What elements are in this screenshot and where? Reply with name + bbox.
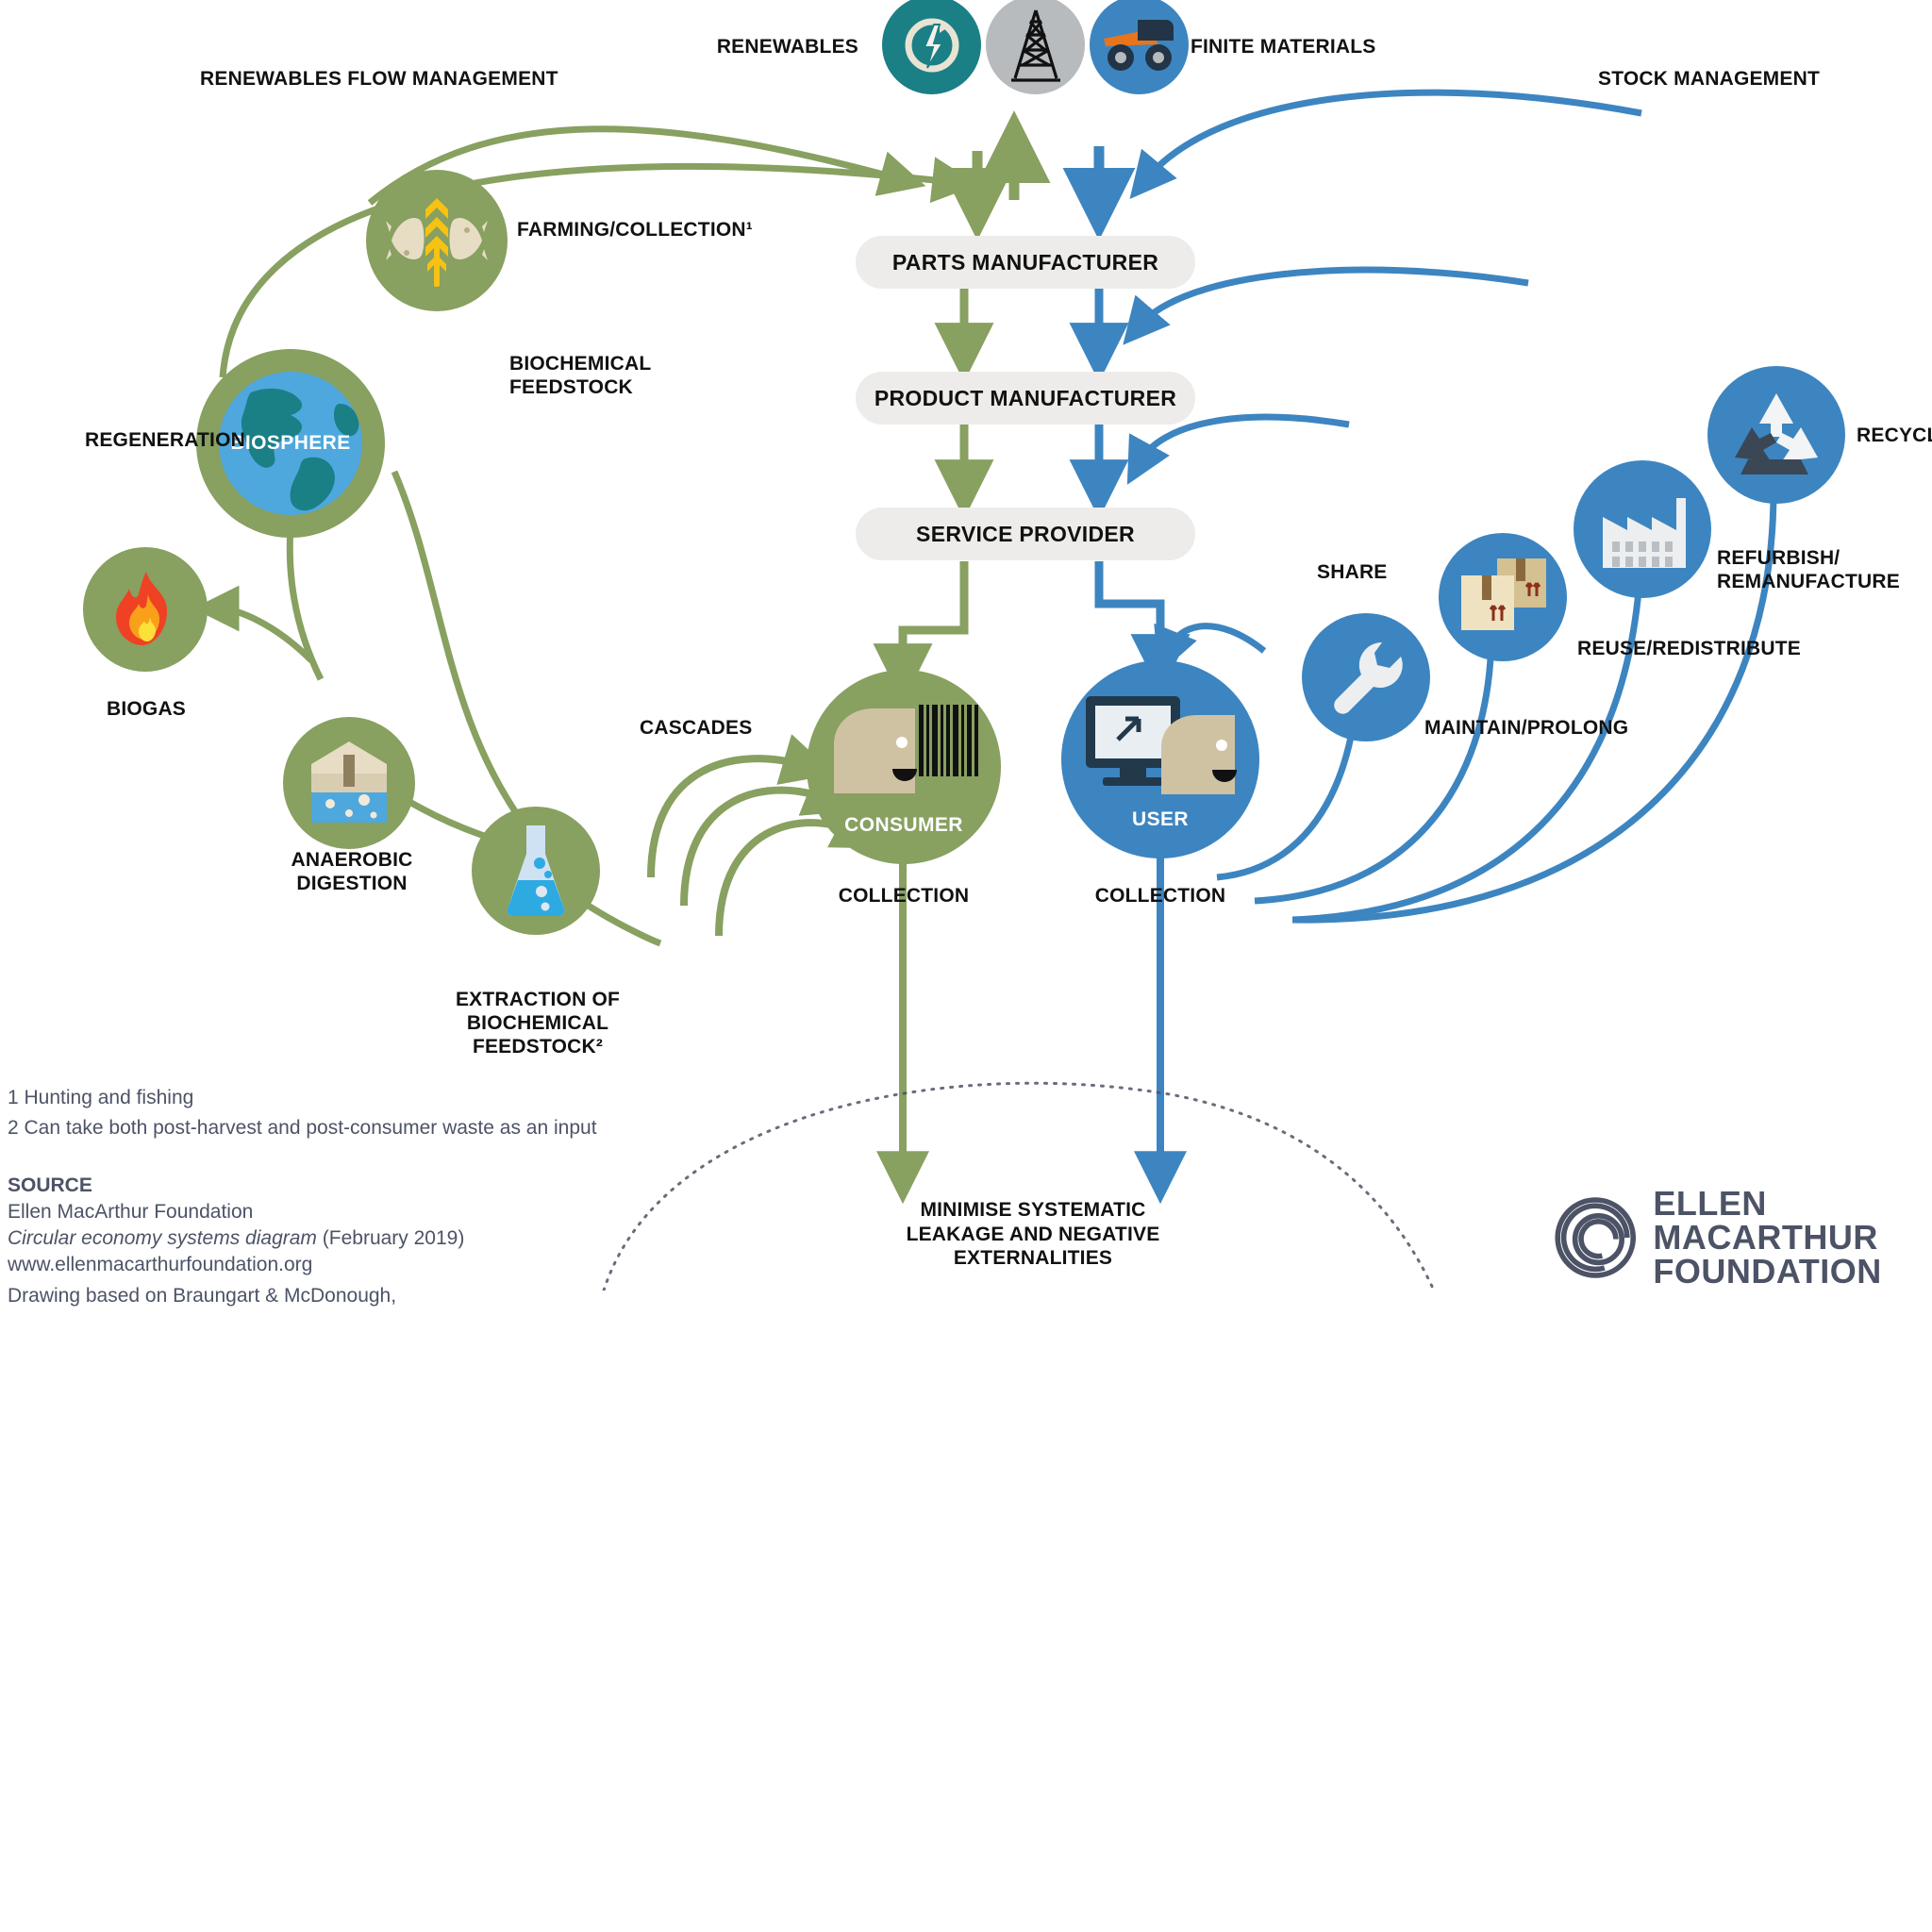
user-node[interactable]: USER [1061, 660, 1259, 858]
emf-logo-text: ELLEN MACARTHUR FOUNDATION [1653, 1187, 1932, 1289]
user-screen-icon [1080, 689, 1241, 800]
mining-truck-icon [1100, 16, 1179, 75]
label-anaerobic-digestion: ANAEROBIC DIGESTION [236, 849, 468, 896]
reuse-redistribute-node[interactable] [1439, 533, 1567, 661]
refurbish-node[interactable] [1574, 460, 1711, 598]
user-caption: USER [1061, 808, 1259, 831]
source-heading: SOURCE [8, 1173, 92, 1198]
label-renewables: RENEWABLES [528, 36, 858, 59]
consumer-node[interactable]: CONSUMER [807, 670, 1001, 864]
diagram-canvas: RENEWABLES FLOW MANAGEMENT STOCK MANAGEM… [0, 0, 1932, 1932]
source-line4: Drawing based on Braungart & McDonough, [8, 1283, 396, 1308]
pill-service-provider[interactable]: SERVICE PROVIDER [856, 508, 1195, 560]
label-finite-materials: FINITE MATERIALS [1191, 36, 1375, 59]
source-line1: Ellen MacArthur Foundation [8, 1199, 253, 1224]
label-farming-collection: FARMING/COLLECTION¹ [517, 219, 753, 242]
consumer-caption: CONSUMER [807, 814, 1001, 837]
label-biogas: BIOGAS [47, 698, 245, 722]
emf-spiral-icon [1555, 1187, 1636, 1289]
heading-stock-management: STOCK MANAGEMENT [1598, 68, 1820, 92]
footnote-1: 1 Hunting and fishing [8, 1085, 193, 1110]
pill-parts-manufacturer[interactable]: PARTS MANUFACTURER [856, 236, 1195, 289]
label-minimise: MINIMISE SYSTEMATIC LEAKAGE AND NEGATIVE… [877, 1198, 1189, 1271]
consumer-head-barcode-icon [824, 699, 983, 803]
source-date: (February 2019) [317, 1227, 464, 1249]
anaerobic-digestion-node[interactable] [283, 717, 415, 849]
farming-fish-wheat-icon [384, 189, 490, 292]
label-biochemical-feedstock: BIOCHEMICAL FEEDSTOCK [509, 353, 651, 400]
label-share: SHARE [1317, 561, 1388, 585]
label-refurbish-remanufacture: REFURBISH/ REMANUFACTURE [1717, 547, 1900, 594]
oil-rig-icon [1009, 8, 1062, 82]
wrench-icon [1325, 637, 1407, 718]
share-node[interactable] [1302, 613, 1430, 741]
recycle-node[interactable] [1707, 366, 1845, 504]
label-maintain-prolong: MAINTAIN/PROLONG [1424, 717, 1628, 741]
label-cascades: CASCADES [640, 717, 752, 741]
emf-logo: ELLEN MACARTHUR FOUNDATION [1555, 1187, 1932, 1289]
pill-product-manufacturer[interactable]: PRODUCT MANUFACTURER [856, 372, 1195, 425]
emf-logo-line2: FOUNDATION [1653, 1255, 1932, 1289]
label-extraction: EXTRACTION OF BIOCHEMICAL FEEDSTOCK² [396, 989, 679, 1058]
boxes-icon [1456, 555, 1550, 640]
source-line2: Circular economy systems diagram (Februa… [8, 1225, 464, 1251]
anaerobic-digester-icon [304, 740, 394, 826]
label-collection-right: COLLECTION [1054, 885, 1267, 908]
emf-logo-line1: ELLEN MACARTHUR [1653, 1187, 1932, 1255]
biogas-node[interactable] [83, 547, 208, 672]
label-reuse-redistribute: REUSE/REDISTRIBUTE [1577, 638, 1801, 661]
footnote-2: 2 Can take both post-harvest and post-co… [8, 1115, 597, 1141]
label-collection-left: COLLECTION [797, 885, 1010, 908]
heading-renewables-flow: RENEWABLES FLOW MANAGEMENT [200, 68, 558, 92]
source-title-italic: Circular economy systems diagram [8, 1227, 317, 1249]
label-recycle: RECYCLE [1857, 425, 1932, 448]
flame-icon [112, 570, 178, 649]
renewable-energy-icon [898, 11, 966, 79]
recycle-icon [1727, 388, 1825, 482]
source-website[interactable]: www.ellenmacarthurfoundation.org [8, 1252, 312, 1277]
factory-icon [1597, 489, 1688, 570]
extraction-node[interactable] [472, 807, 600, 935]
flask-icon [502, 822, 570, 920]
farming-collection-node[interactable] [366, 170, 508, 311]
label-regeneration: REGENERATION [0, 429, 245, 453]
